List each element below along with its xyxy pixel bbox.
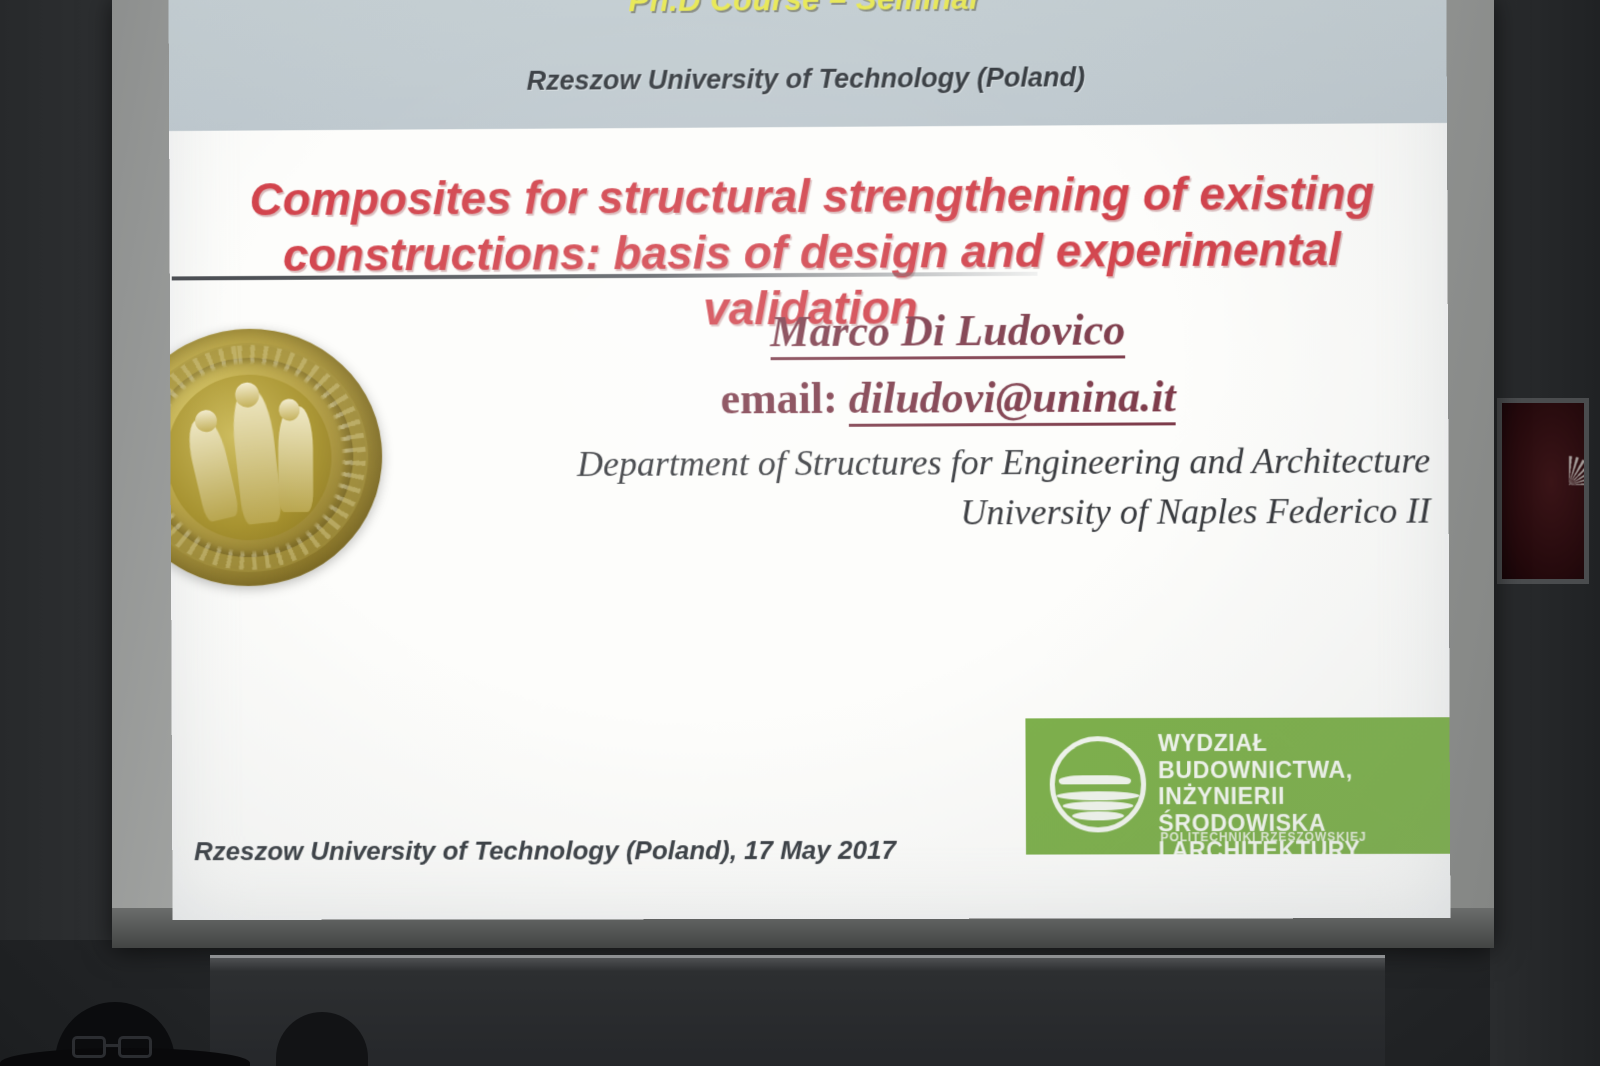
slide-footer: Rzeszow University of Technology (Poland… [194,835,896,867]
faculty-logo-mark-icon [1050,736,1147,832]
hill-shape-3 [1072,811,1124,820]
hill-shape-1 [1057,791,1140,800]
presentation-slide: Ph.D Course – Seminar Rzeszow University… [169,0,1451,920]
university-seal-icon [169,315,396,600]
faculty-logo-line-3: INŻYNIERII ŚRODOWISKA [1158,783,1450,837]
author-name: Marco Di Ludovico [770,306,1125,360]
picture-canvas [1502,403,1584,579]
framed-emblem-picture [1497,398,1589,584]
affiliation-department: Department of Structures for Engineering… [359,436,1430,490]
email-label: email: [720,374,837,424]
lens-right [118,1036,152,1058]
faculty-logo-subtitle: POLITECHNIKI RZESZOWSKIEJ [1160,830,1366,844]
affiliation-university: University of Naples Federico II [359,486,1430,540]
seal-figure-right [278,406,313,512]
course-title: Ph.D Course – Seminar [169,0,1447,22]
hill-shape-2 [1063,801,1134,810]
glasses-bridge [106,1044,118,1047]
faculty-logo-line-1: WYDZIAŁ [1158,729,1451,757]
bridge-shape [1059,776,1132,785]
slide-banner: Ph.D Course – Seminar Rzeszow University… [169,0,1447,131]
email-address[interactable]: diludovi@unina.it [849,373,1176,428]
eagle-emblem-icon [1540,456,1584,514]
author-block: Marco Di Ludovico email: diludovi@unina.… [468,305,1430,426]
faculty-logo-line-2: BUDOWNICTWA, [1158,756,1450,783]
lens-left [72,1036,106,1058]
host-university: Rzeszow University of Technology (Poland… [169,60,1447,99]
foreground-dark-panel [210,955,1385,1066]
author-email-row: email: diludovi@unina.it [468,370,1430,426]
lecture-room-scene: Ph.D Course – Seminar Rzeszow University… [0,0,1600,1066]
wall-left [0,0,120,940]
affiliation-block: Department of Structures for Engineering… [359,436,1430,540]
faculty-logo: WYDZIAŁ BUDOWNICTWA, INŻYNIERII ŚRODOWIS… [1025,717,1450,854]
eyeglasses-icon [72,1036,156,1058]
